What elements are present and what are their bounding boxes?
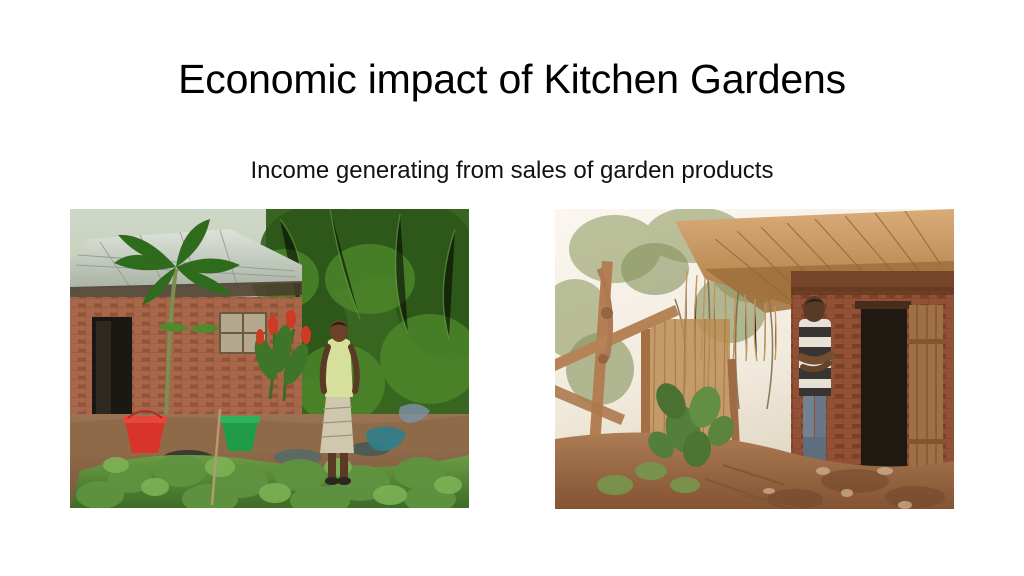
slide-canvas: Economic impact of Kitchen Gardens Incom… xyxy=(0,0,1024,576)
photo-kitchen-garden-left xyxy=(70,209,469,508)
page-title: Economic impact of Kitchen Gardens xyxy=(0,57,1024,102)
slide-subtitle: Income generating from sales of garden p… xyxy=(0,157,1024,185)
photo-kitchen-garden-right xyxy=(555,209,954,509)
photo-right-illustration xyxy=(555,209,954,509)
photo-left-illustration xyxy=(70,209,469,508)
